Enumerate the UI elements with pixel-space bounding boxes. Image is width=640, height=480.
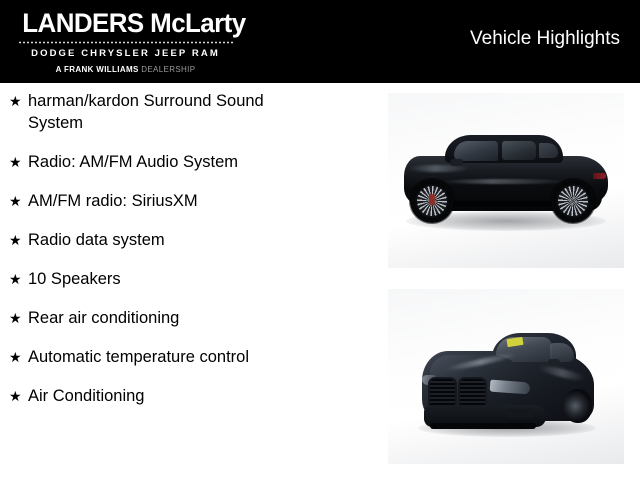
star-bullet-icon: ★ [9, 90, 28, 112]
logo-brand-list: DODGE CHRYSLER JEEP RAM [18, 47, 233, 61]
photo-stage [388, 93, 624, 268]
star-bullet-icon: ★ [9, 346, 28, 368]
feature-label: AM/FM radio: SiriusXM [28, 190, 318, 212]
vehicle-photo-side-profile [388, 93, 624, 268]
logo-tagline-strong: A FRANK WILLIAMS [56, 65, 142, 74]
car-brake-caliper [429, 194, 435, 205]
feature-label: 10 Speakers [28, 268, 318, 290]
car-hood-highlight [408, 165, 468, 172]
car-front-splitter [430, 423, 536, 429]
star-bullet-icon: ★ [9, 229, 28, 251]
car-rear-wheel [551, 179, 595, 223]
car-side-highlight [440, 179, 570, 184]
photo-stage [388, 289, 624, 464]
vehicle-photo-front-three-quarter [388, 289, 624, 464]
list-item: ★ Automatic temperature control [0, 346, 380, 368]
logo-dotted-divider [18, 41, 233, 44]
feature-label: Automatic temperature control [28, 346, 318, 368]
star-bullet-icon: ★ [9, 268, 28, 290]
car-front-window [454, 141, 498, 161]
car-rear-window [502, 141, 536, 160]
feature-label: Air Conditioning [28, 385, 318, 407]
list-item: ★ harman/kardon Surround Sound System [0, 90, 380, 134]
vehicle-features-list: ★ harman/kardon Surround Sound System ★ … [0, 90, 380, 424]
car-quarter-window [539, 143, 558, 158]
page-header: LANDERS McLarty DODGE CHRYSLER JEEP RAM … [0, 0, 640, 83]
star-bullet-icon: ★ [9, 385, 28, 407]
list-item: ★ Rear air conditioning [0, 307, 380, 329]
logo-tagline: A FRANK WILLIAMS DEALERSHIP [18, 64, 233, 76]
logo-tagline-light: DEALERSHIP [141, 65, 195, 74]
list-item: ★ Radio data system [0, 229, 380, 251]
list-item: ★ Radio: AM/FM Audio System [0, 151, 380, 173]
car-air-intake [506, 409, 534, 418]
star-bullet-icon: ★ [9, 190, 28, 212]
star-bullet-icon: ★ [9, 151, 28, 173]
dealership-logo: LANDERS McLarty DODGE CHRYSLER JEEP RAM … [18, 8, 233, 76]
list-item: ★ 10 Speakers [0, 268, 380, 290]
car-side-mirror [450, 159, 463, 166]
feature-label: Radio: AM/FM Audio System [28, 151, 318, 173]
car-rear-wheel [564, 389, 592, 423]
car-side-mirror [548, 359, 560, 366]
list-item: ★ AM/FM radio: SiriusXM [0, 190, 380, 212]
feature-label: harman/kardon Surround Sound System [28, 90, 318, 134]
car-rocker-panel [440, 201, 558, 207]
vehicle-highlights-page: LANDERS McLarty DODGE CHRYSLER JEEP RAM … [0, 0, 640, 480]
list-item: ★ Air Conditioning [0, 385, 380, 407]
feature-label: Radio data system [28, 229, 318, 251]
star-bullet-icon: ★ [9, 307, 28, 329]
page-title: Vehicle Highlights [470, 27, 620, 50]
logo-wordmark: LANDERS McLarty [22, 8, 228, 38]
car-taillight [593, 173, 606, 179]
feature-label: Rear air conditioning [28, 307, 318, 329]
